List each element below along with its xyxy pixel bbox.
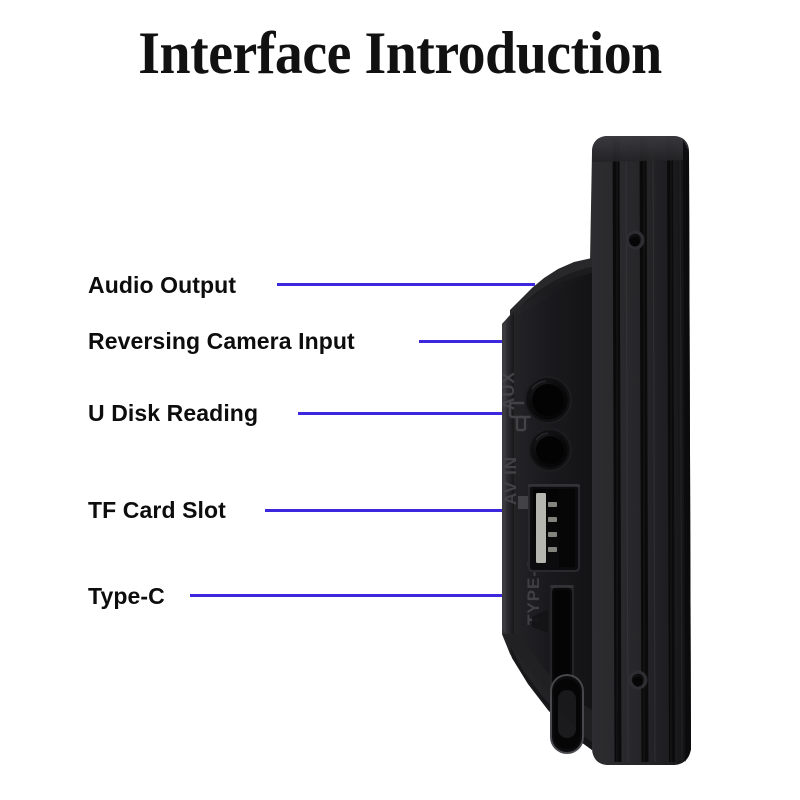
callout-label-audio-output: Audio Output [88, 272, 236, 298]
callout-label-type-c: Type-C [88, 583, 165, 609]
screw-hole-top [626, 231, 645, 250]
callout-label-reversing-camera-input: Reversing Camera Input [88, 328, 355, 354]
callout-label-u-disk-reading: U Disk Reading [88, 400, 258, 426]
page-title: Interface Introduction [28, 20, 772, 86]
screw-hole-bottom [629, 671, 648, 690]
device-illustration: AUX AV IN TYPE-C [440, 110, 700, 780]
callout-label-tf-card-slot: TF Card Slot [88, 497, 226, 523]
device-top-cap [592, 136, 689, 162]
